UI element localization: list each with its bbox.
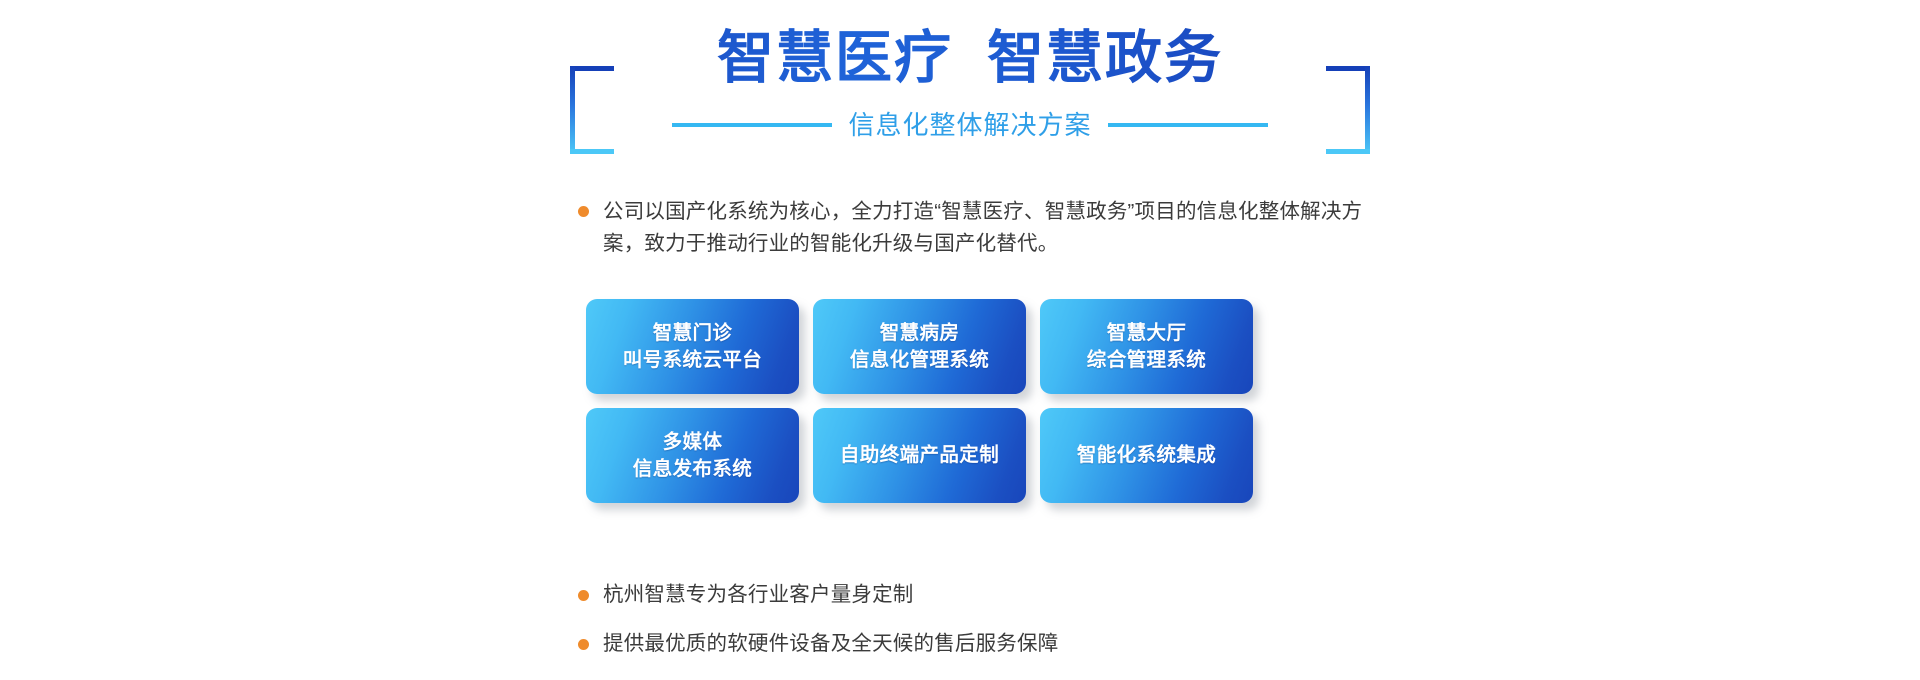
bracket-left-bottom-arm <box>570 149 614 154</box>
solution-card[interactable]: 智慧病房 信息化管理系统 <box>813 299 1026 394</box>
page-title-part2: 智慧政务 <box>987 26 1223 90</box>
page-title: 智慧医疗智慧政务 <box>570 22 1370 94</box>
solution-card[interactable]: 多媒体 信息发布系统 <box>586 408 799 503</box>
page-title-part1: 智慧医疗 <box>717 26 953 90</box>
poster-root: 智慧医疗智慧政务 信息化整体解决方案 公司以国产化系统为核心，全力打造“智慧医疗… <box>0 0 1920 680</box>
solution-card-label: 智能化系统集成 <box>1077 442 1216 469</box>
bracket-right-bottom-arm <box>1326 149 1370 154</box>
orange-dot-icon <box>578 206 589 217</box>
solution-card[interactable]: 智慧门诊 叫号系统云平台 <box>586 299 799 394</box>
bottom-bullet-list: 杭州智慧专为各行业客户量身定制 提供最优质的软硬件设备及全天候的售后服务保障 <box>578 580 1398 678</box>
subtitle-rule-left <box>672 123 832 127</box>
title-block: 智慧医疗智慧政务 信息化整体解决方案 <box>570 22 1370 147</box>
orange-dot-icon <box>578 590 589 601</box>
subtitle-rule-right <box>1108 123 1268 127</box>
intro-text: 公司以国产化系统为核心，全力打造“智慧医疗、智慧政务”项目的信息化整体解决方案，… <box>603 196 1378 260</box>
subtitle-row: 信息化整体解决方案 <box>570 108 1370 142</box>
orange-dot-icon <box>578 639 589 650</box>
solution-card-label: 智慧病房 信息化管理系统 <box>850 320 989 374</box>
solution-card-grid: 智慧门诊 叫号系统云平台 智慧病房 信息化管理系统 智慧大厅 综合管理系统 多媒… <box>586 299 1253 503</box>
solution-card[interactable]: 智能化系统集成 <box>1040 408 1253 503</box>
solution-card[interactable]: 智慧大厅 综合管理系统 <box>1040 299 1253 394</box>
solution-card[interactable]: 自助终端产品定制 <box>813 408 1026 503</box>
solution-card-label: 智慧门诊 叫号系统云平台 <box>623 320 762 374</box>
intro-paragraph: 公司以国产化系统为核心，全力打造“智慧医疗、智慧政务”项目的信息化整体解决方案，… <box>578 196 1378 260</box>
list-item: 提供最优质的软硬件设备及全天候的售后服务保障 <box>578 629 1398 659</box>
page-subtitle: 信息化整体解决方案 <box>848 108 1091 142</box>
bottom-point-text: 杭州智慧专为各行业客户量身定制 <box>603 580 914 610</box>
bottom-point-text: 提供最优质的软硬件设备及全天候的售后服务保障 <box>603 629 1058 659</box>
solution-card-label: 智慧大厅 综合管理系统 <box>1087 320 1206 374</box>
solution-card-label: 多媒体 信息发布系统 <box>633 429 752 483</box>
list-item: 杭州智慧专为各行业客户量身定制 <box>578 580 1398 610</box>
solution-card-label: 自助终端产品定制 <box>840 442 999 469</box>
